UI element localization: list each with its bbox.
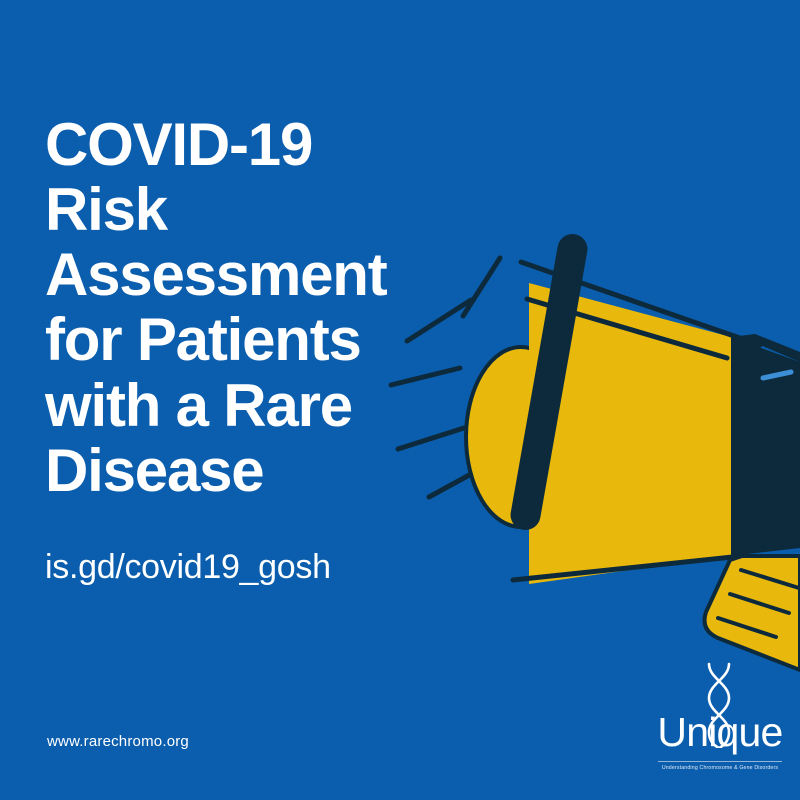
website-url[interactable]: www.rarechromo.org xyxy=(47,733,189,750)
megaphone-body xyxy=(731,337,800,556)
megaphone-lip-bar xyxy=(508,232,590,533)
megaphone-body-top-face xyxy=(731,334,800,362)
unique-logo[interactable]: Unique Understanding Chromosome & Gene D… xyxy=(655,662,785,780)
logo-divider xyxy=(658,761,782,762)
handle-ridges xyxy=(718,570,799,637)
cone-inner-stroke-top xyxy=(527,299,727,358)
handle-ridge-3 xyxy=(718,618,776,637)
handle-ridge-1 xyxy=(741,570,799,588)
page-title: COVID-19 Risk Assessment for Patients wi… xyxy=(45,112,515,503)
megaphone-cone-body xyxy=(529,283,731,584)
cone-outer-outline-top xyxy=(521,262,760,345)
handle-ridge-2 xyxy=(730,594,789,613)
short-link[interactable]: is.gd/covid19_gosh xyxy=(45,548,331,587)
handle-shape xyxy=(705,556,800,670)
logo-tagline: Understanding Chromosome & Gene Disorder… xyxy=(655,765,785,771)
megaphone-handle xyxy=(705,556,800,670)
cone-outline-bottom xyxy=(513,556,742,580)
body-accent-line xyxy=(763,372,791,378)
logo-wordmark: Unique xyxy=(655,712,785,753)
poster-canvas: COVID-19 Risk Assessment for Patients wi… xyxy=(0,0,800,800)
